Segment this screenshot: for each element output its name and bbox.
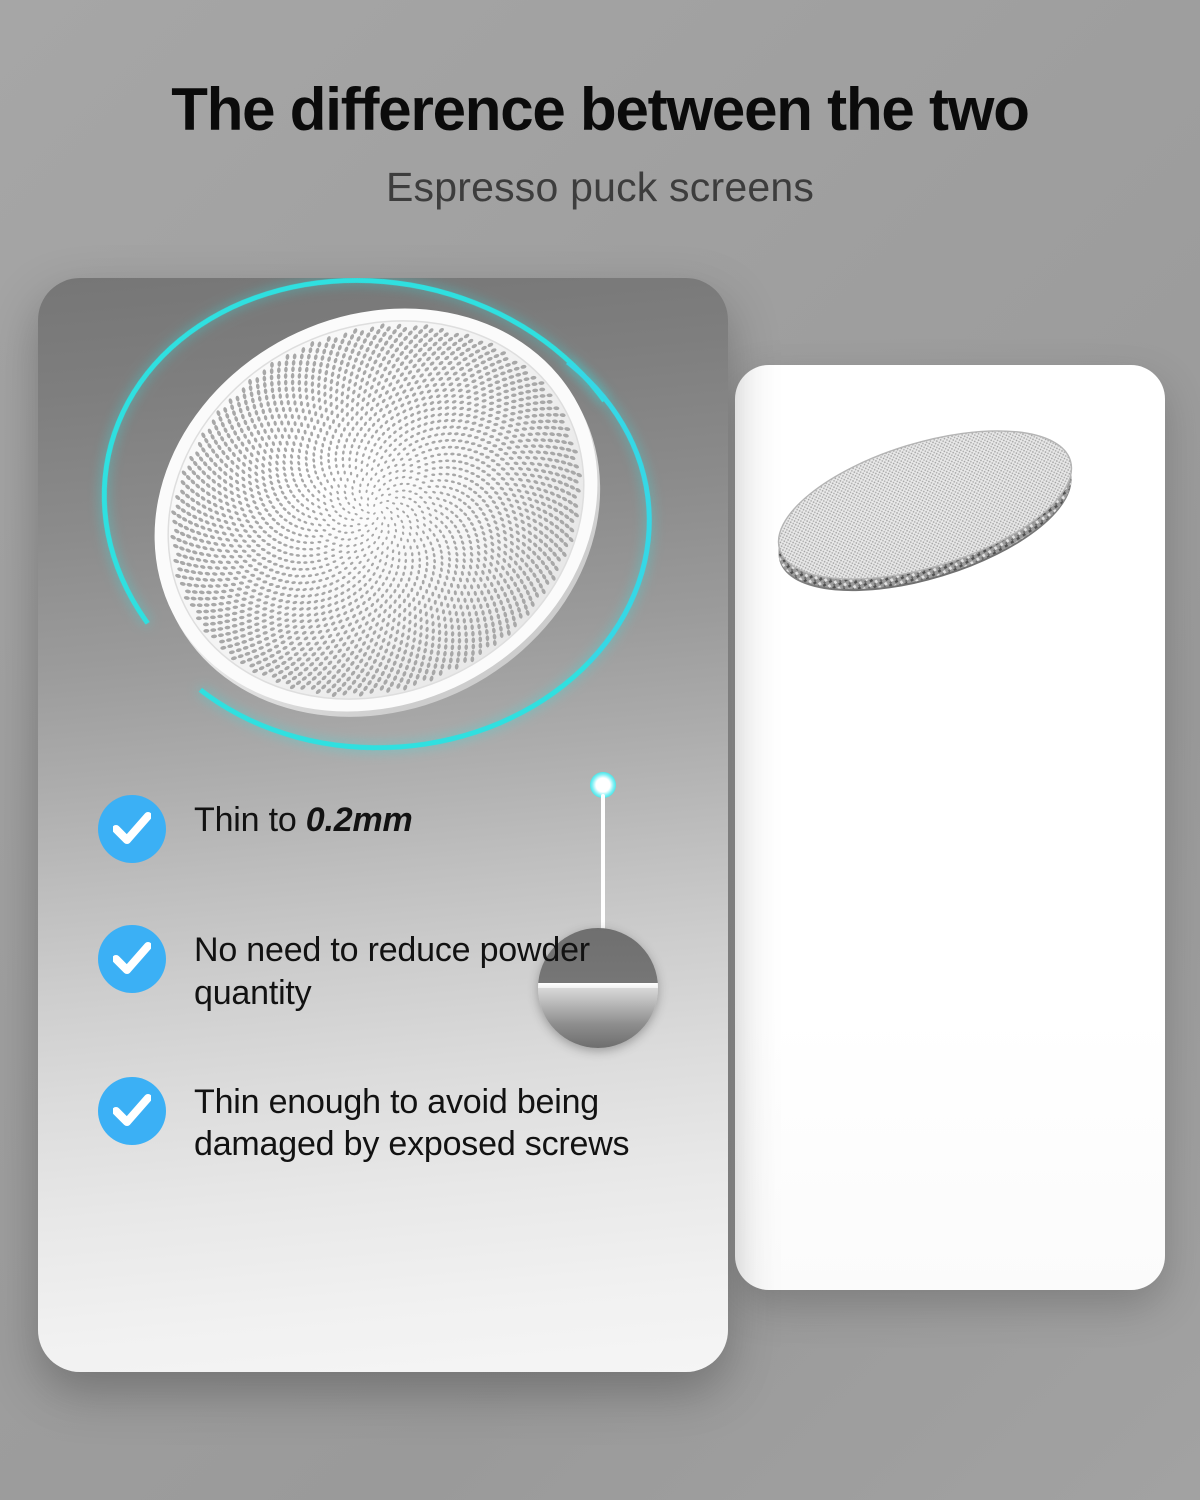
thin-puck-screen-image xyxy=(126,300,646,730)
list-item: Thin to 0.2mm xyxy=(98,793,708,863)
check-icon xyxy=(98,925,166,993)
header: The difference between the two Espresso … xyxy=(0,0,1200,211)
list-item: No need to reduce powder quantity xyxy=(98,923,708,1015)
list-item: Thin enough to avoid being damaged by ex… xyxy=(98,1075,708,1167)
check-icon xyxy=(98,1077,166,1145)
list-item-label: Thin to 0.2mm xyxy=(194,793,413,842)
list-item-label: No need to reduce powder quantity xyxy=(194,923,708,1015)
list-item-label: Thin enough to avoid being damaged by ex… xyxy=(194,1075,708,1167)
thick-disc-svg xyxy=(760,405,1090,625)
thin-disc-svg xyxy=(58,278,694,811)
infographic-page: The difference between the two Espresso … xyxy=(0,0,1200,1500)
page-title: The difference between the two xyxy=(0,78,1200,142)
normal-puck-screen-image xyxy=(760,405,1090,625)
comparison-card-normal: Normal: 1.7mm thickness Need to replace … xyxy=(735,365,1165,1290)
thin-feature-list: Thin to 0.2mm No need to reduce powder q… xyxy=(98,793,708,1166)
check-icon xyxy=(98,795,166,863)
page-subtitle: Espresso puck screens xyxy=(0,164,1200,211)
comparison-card-thin: Thin to 0.2mm No need to reduce powder q… xyxy=(38,278,728,1372)
